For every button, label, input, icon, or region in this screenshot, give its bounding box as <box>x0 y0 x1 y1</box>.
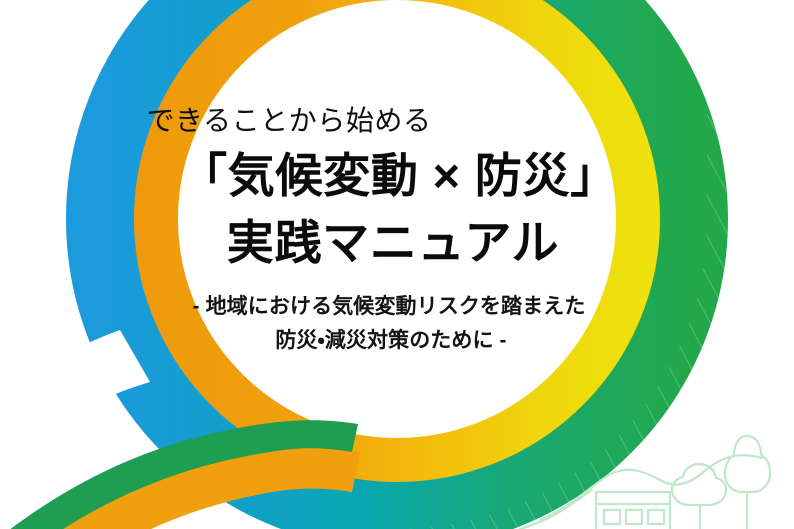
cover-text-stack: できることから始める 「気候変動×防災」 実践マニュアル - 地域における気候変… <box>0 0 794 529</box>
title-close-bracket: 」 <box>570 149 618 202</box>
cover-title-line2: 実践マニュアル <box>227 216 560 271</box>
title-part-climate: 気候変動 <box>228 149 419 202</box>
cover-tagline-line2: 防災・減災対策のために - <box>195 324 588 358</box>
cover-page: できることから始める 「気候変動×防災」 実践マニュアル - 地域における気候変… <box>0 0 794 529</box>
cover-tagline-line1: - 地域における気候変動リスクを踏まえた <box>193 290 586 324</box>
cover-title-line1: 「気候変動×防災」 <box>180 149 618 204</box>
title-open-bracket: 「 <box>180 149 228 202</box>
cover-eyebrow: できることから始める <box>146 104 431 137</box>
cover-tagline: - 地域における気候変動リスクを踏まえた 防災・減災対策のために - <box>201 290 594 358</box>
title-separator-times: × <box>419 149 475 204</box>
title-part-disaster: 防災 <box>475 149 570 202</box>
